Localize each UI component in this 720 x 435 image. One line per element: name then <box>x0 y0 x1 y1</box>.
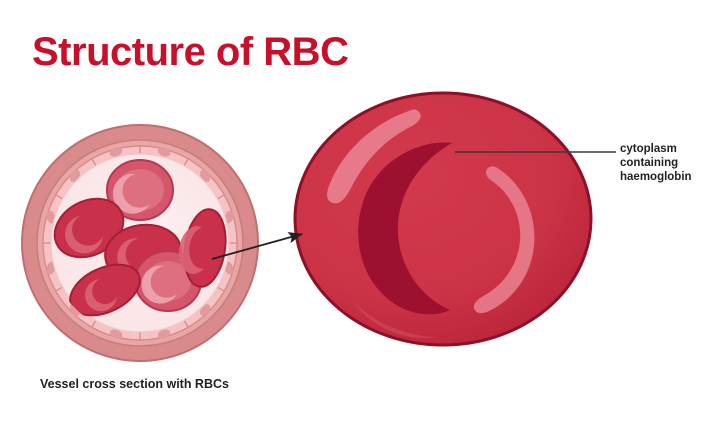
callout-line-1: cytoplasm <box>620 142 692 156</box>
rbc-structure-figure: Structure of RBC Vessel cross section wi… <box>0 0 720 430</box>
callout-line-2: containing <box>620 156 692 170</box>
magnified-rbc <box>295 93 591 345</box>
vessel-cross-section <box>22 125 258 361</box>
callout-line-3: haemoglobin <box>620 170 692 184</box>
cytoplasm-callout-label: cytoplasm containing haemoglobin <box>620 142 692 184</box>
vessel-caption: Vessel cross section with RBCs <box>40 377 229 391</box>
page-title: Structure of RBC <box>32 30 348 75</box>
